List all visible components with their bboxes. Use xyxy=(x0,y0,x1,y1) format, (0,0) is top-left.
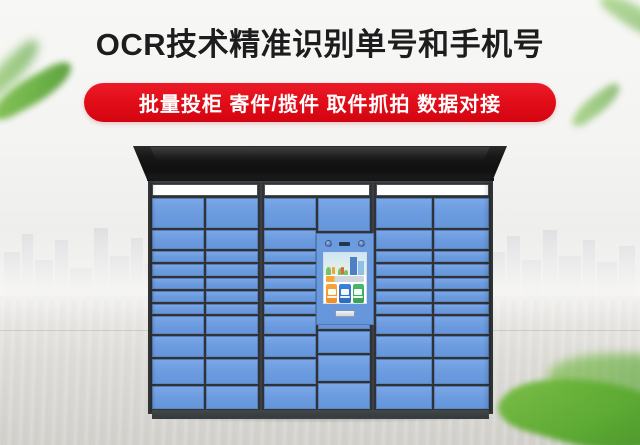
deposit-button[interactable] xyxy=(326,284,337,303)
locker-door[interactable] xyxy=(264,304,316,313)
door-column xyxy=(206,198,258,409)
button-label xyxy=(327,296,337,298)
gear-icon xyxy=(354,289,362,295)
locker-door[interactable] xyxy=(434,291,490,302)
locker-door[interactable] xyxy=(152,251,204,262)
center-header-strip xyxy=(264,184,370,196)
screen-banner-illustration xyxy=(324,253,366,275)
locker-door[interactable] xyxy=(434,336,490,357)
locker-door[interactable] xyxy=(152,359,204,383)
locker-door[interactable] xyxy=(376,264,432,275)
cabinet-right-shading xyxy=(483,181,493,414)
locker-door[interactable] xyxy=(318,383,370,409)
page-title: OCR技术精准识别单号和手机号 xyxy=(0,26,640,64)
locker-door[interactable] xyxy=(434,230,490,249)
button-label xyxy=(353,296,363,298)
locker-door[interactable] xyxy=(434,278,490,289)
locker-door[interactable] xyxy=(206,359,258,383)
cabinet-left-shading xyxy=(148,181,156,414)
locker-door[interactable] xyxy=(434,251,490,262)
locker-door[interactable] xyxy=(376,386,432,409)
canopy-highlight xyxy=(150,147,490,161)
locker-door[interactable] xyxy=(206,198,258,228)
locker-door[interactable] xyxy=(152,316,204,335)
locker-door[interactable] xyxy=(264,336,316,357)
camera-lens-icon xyxy=(358,240,365,247)
locker-door[interactable] xyxy=(152,264,204,275)
locker-door[interactable] xyxy=(376,316,432,335)
locker-door[interactable] xyxy=(434,316,490,335)
barcode-scanner-slot[interactable] xyxy=(335,310,355,317)
locker-door[interactable] xyxy=(264,291,316,302)
locker-door[interactable] xyxy=(152,304,204,313)
left-header-strip xyxy=(152,184,258,196)
promo-banner-image: OCR技术精准识别单号和手机号 批量投柜 寄件/揽件 取件抓拍 数据对接 xyxy=(0,0,640,445)
locker-door[interactable] xyxy=(206,230,258,249)
locker-door[interactable] xyxy=(318,198,370,231)
camera-lens-icon xyxy=(325,240,332,247)
locker-door[interactable] xyxy=(264,198,316,228)
right-door-grid xyxy=(376,198,489,409)
locker-door[interactable] xyxy=(264,316,316,335)
locker-door[interactable] xyxy=(434,386,490,409)
locker-door[interactable] xyxy=(152,336,204,357)
locker-door[interactable] xyxy=(376,251,432,262)
terminal-screen[interactable] xyxy=(323,252,367,304)
locker-door[interactable] xyxy=(206,336,258,357)
locker-door[interactable] xyxy=(152,278,204,289)
locker-door[interactable] xyxy=(152,230,204,249)
locker-door[interactable] xyxy=(434,304,490,313)
door-column xyxy=(264,198,316,409)
locker-door[interactable] xyxy=(376,198,432,228)
right-header-strip xyxy=(376,184,489,196)
locker-door[interactable] xyxy=(264,359,316,383)
locker-door[interactable] xyxy=(152,198,204,228)
cabinet-ground-shadow xyxy=(140,417,502,423)
box-icon xyxy=(341,289,349,295)
locker-door[interactable] xyxy=(206,278,258,289)
locker-door[interactable] xyxy=(264,251,316,262)
ir-sensor-icon xyxy=(339,242,350,246)
locker-door[interactable] xyxy=(376,230,432,249)
locker-door[interactable] xyxy=(376,359,432,383)
locker-door[interactable] xyxy=(264,386,316,409)
locker-door[interactable] xyxy=(264,230,316,249)
locker-door[interactable] xyxy=(152,291,204,302)
smart-locker-cabinet xyxy=(0,0,640,445)
door-column xyxy=(376,198,432,409)
feature-pill-text: 批量投柜 寄件/揽件 取件抓拍 数据对接 xyxy=(139,88,501,117)
locker-door[interactable] xyxy=(206,304,258,313)
locker-door[interactable] xyxy=(434,264,490,275)
pickup-button[interactable] xyxy=(339,284,350,303)
screen-button-row xyxy=(324,282,366,304)
locker-door[interactable] xyxy=(376,304,432,313)
locker-door[interactable] xyxy=(318,331,370,353)
left-door-grid xyxy=(152,198,258,409)
locker-door[interactable] xyxy=(376,291,432,302)
locker-door[interactable] xyxy=(206,291,258,302)
button-label xyxy=(340,296,350,298)
parcel-icon xyxy=(328,289,336,295)
locker-door[interactable] xyxy=(318,355,370,382)
locker-door[interactable] xyxy=(376,278,432,289)
locker-door[interactable] xyxy=(264,264,316,275)
feature-pill-banner: 批量投柜 寄件/揽件 取件抓拍 数据对接 xyxy=(84,83,556,122)
locker-door[interactable] xyxy=(206,251,258,262)
locker-door[interactable] xyxy=(206,386,258,409)
locker-door[interactable] xyxy=(434,359,490,383)
door-column xyxy=(152,198,204,409)
locker-door[interactable] xyxy=(434,198,490,228)
door-column xyxy=(434,198,490,409)
locker-door[interactable] xyxy=(206,264,258,275)
locker-door[interactable] xyxy=(264,278,316,289)
locker-door[interactable] xyxy=(152,386,204,409)
locker-door[interactable] xyxy=(206,316,258,335)
admin-button[interactable] xyxy=(353,284,364,303)
locker-door[interactable] xyxy=(376,336,432,357)
